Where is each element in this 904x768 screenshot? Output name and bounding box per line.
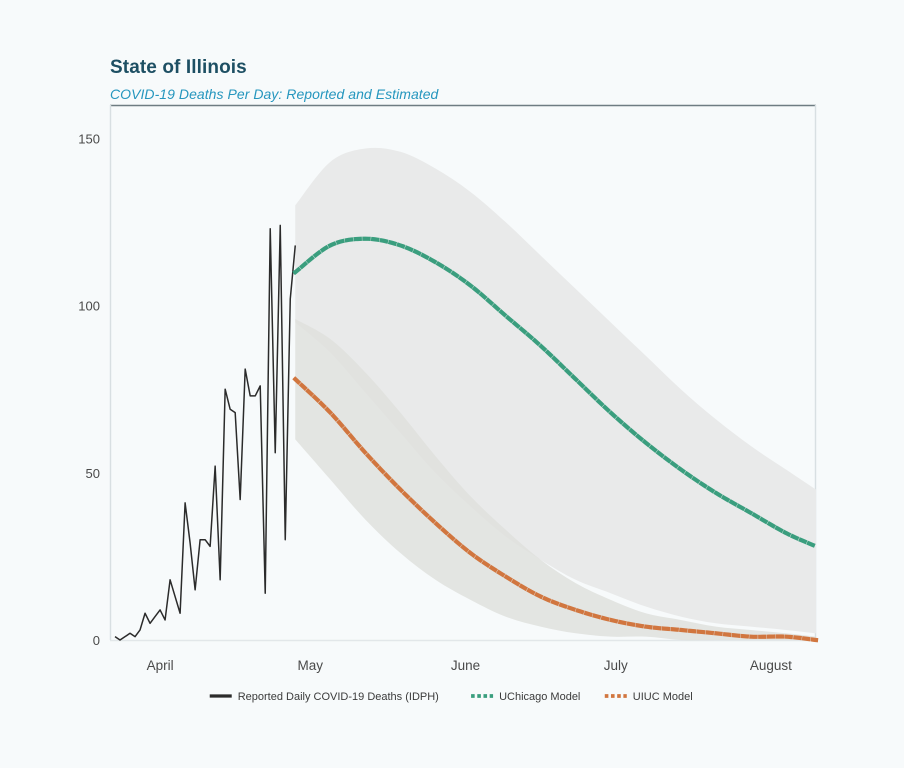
legend-item[interactable]: Reported Daily COVID-19 Deaths (IDPH): [210, 691, 439, 703]
x-tick-label: August: [750, 658, 792, 673]
y-tick-label: 0: [93, 633, 100, 648]
reported-deaths-line: [115, 225, 295, 640]
y-tick-label: 150: [78, 131, 100, 146]
legend-label: UIUC Model: [633, 691, 693, 703]
y-tick-label: 100: [78, 299, 100, 314]
y-tick-label: 50: [86, 466, 100, 481]
x-tick-label: July: [604, 658, 628, 673]
x-tick-label: June: [451, 658, 480, 673]
chart-legend: Reported Daily COVID-19 Deaths (IDPH)UCh…: [210, 691, 693, 703]
x-tick-label: April: [147, 658, 174, 673]
x-axis-ticks: AprilMayJuneJulyAugust: [147, 658, 793, 673]
legend-item[interactable]: UIUC Model: [605, 691, 693, 703]
x-tick-label: May: [298, 658, 324, 673]
y-axis-ticks: 050100150: [78, 131, 100, 648]
chart-svg: 050100150 AprilMayJuneJulyAugust Reporte…: [0, 0, 904, 768]
legend-item[interactable]: UChicago Model: [471, 691, 580, 703]
legend-label: UChicago Model: [499, 691, 580, 703]
chart-container: State of Illinois COVID-19 Deaths Per Da…: [0, 0, 904, 768]
legend-label: Reported Daily COVID-19 Deaths (IDPH): [238, 691, 439, 703]
